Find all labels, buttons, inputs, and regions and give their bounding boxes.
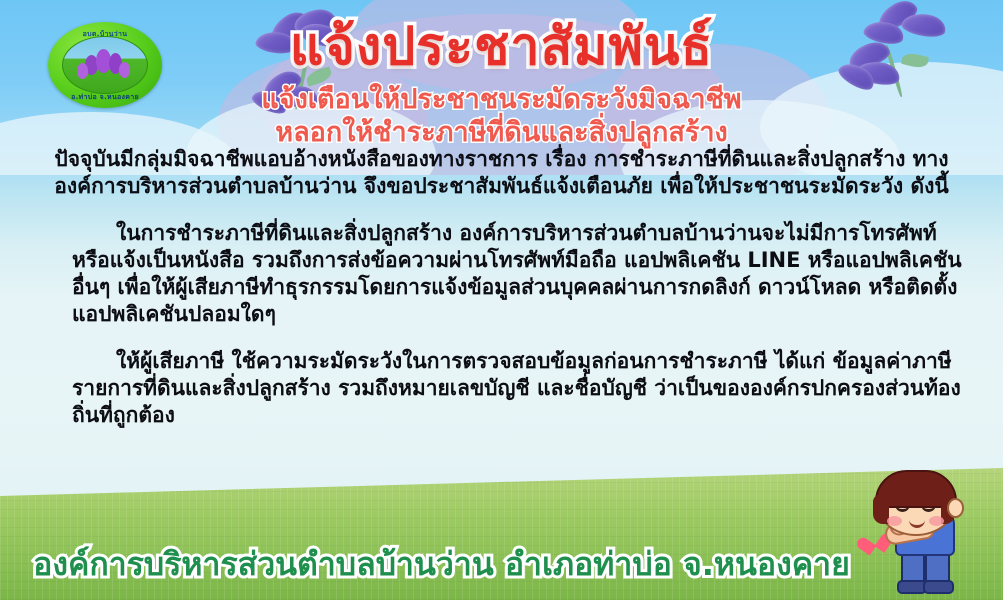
paragraph-2: ในการชำระภาษีที่ดินและสิ่งปลูกสร้าง องค์…: [0, 220, 1003, 328]
poster-subtitle-line-2: หลอกให้ชำระภาษีที่ดินและสิ่งปลูกสร้าง: [0, 119, 1003, 146]
poster-subtitle-line-1: แจ้งเตือนให้ประชาชนระมัดระวังมิจฉาชีพ: [0, 86, 1003, 113]
poster-footer-organization: องค์การบริหารส่วนตำบลบ้านว่าน อำเภอท่าบ่…: [0, 539, 1003, 590]
wai-greeting-boy-icon: [855, 474, 995, 594]
poster-body: ปัจจุบันมีกลุ่มมิจฉาชีพแอบอ้างหนังสือของ…: [0, 146, 1003, 429]
paragraph-3: ให้ผู้เสียภาษี ใช้ความระมัดระวังในการตรว…: [0, 348, 1003, 429]
announcement-poster: อบต.บ้านว่าน อ.ท่าบ่อ จ.หนองคาย แจ้งประช…: [0, 0, 1003, 600]
paragraph-1: ปัจจุบันมีกลุ่มมิจฉาชีพแอบอ้างหนังสือของ…: [0, 146, 1003, 200]
poster-main-title: แจ้งประชาสัมพันธ์: [0, 21, 1003, 73]
